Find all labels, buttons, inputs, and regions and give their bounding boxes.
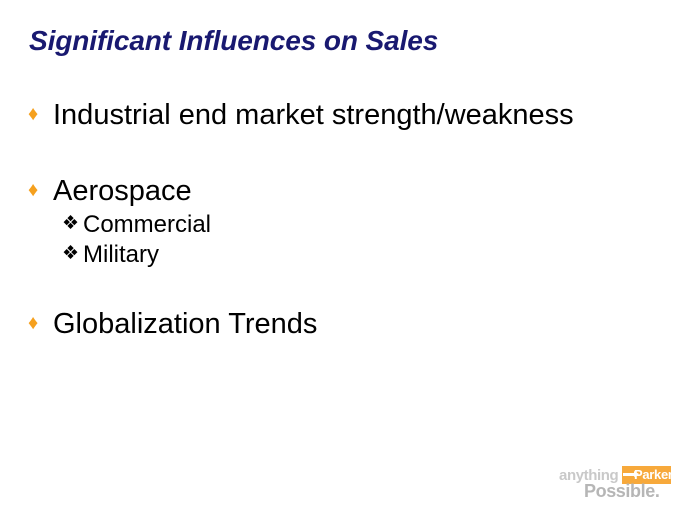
page-title: Significant Influences on Sales — [29, 26, 438, 57]
presentation-slide: Significant Influences on Sales ♦ Indust… — [0, 0, 680, 510]
bullet-item-3-label: Globalization Trends — [53, 307, 317, 342]
parker-logo: anything Parker Possible. — [559, 466, 671, 504]
bullet-item-3: ♦ Globalization Trends — [0, 307, 680, 342]
diamond-bullet-icon: ♦ — [28, 98, 53, 130]
sub-bullet-item-1: ❖ Commercial — [0, 210, 680, 241]
bullet-item-2-label: Aerospace — [53, 174, 192, 209]
sub-bullet-item-2: ❖ Military — [0, 240, 680, 271]
logo-brand-text: Parker — [634, 468, 673, 481]
diamond-bullet-icon: ♦ — [28, 174, 53, 206]
bullet-item-2: ♦ Aerospace — [0, 174, 680, 209]
logo-possible-text: Possible. — [584, 482, 659, 500]
slide-body: ♦ Industrial end market strength/weaknes… — [0, 98, 680, 343]
bullet-item-1-label: Industrial end market strength/weakness — [53, 98, 574, 133]
four-diamond-bullet-icon: ❖ — [62, 210, 83, 238]
bullet-item-1: ♦ Industrial end market strength/weaknes… — [0, 98, 680, 133]
four-diamond-bullet-icon: ❖ — [62, 240, 83, 268]
bullet-spacer — [0, 271, 680, 307]
sub-bullet-item-1-label: Commercial — [83, 210, 211, 241]
diamond-bullet-icon: ♦ — [28, 307, 53, 339]
bullet-spacer — [0, 133, 680, 174]
sub-bullet-item-2-label: Military — [83, 240, 159, 271]
